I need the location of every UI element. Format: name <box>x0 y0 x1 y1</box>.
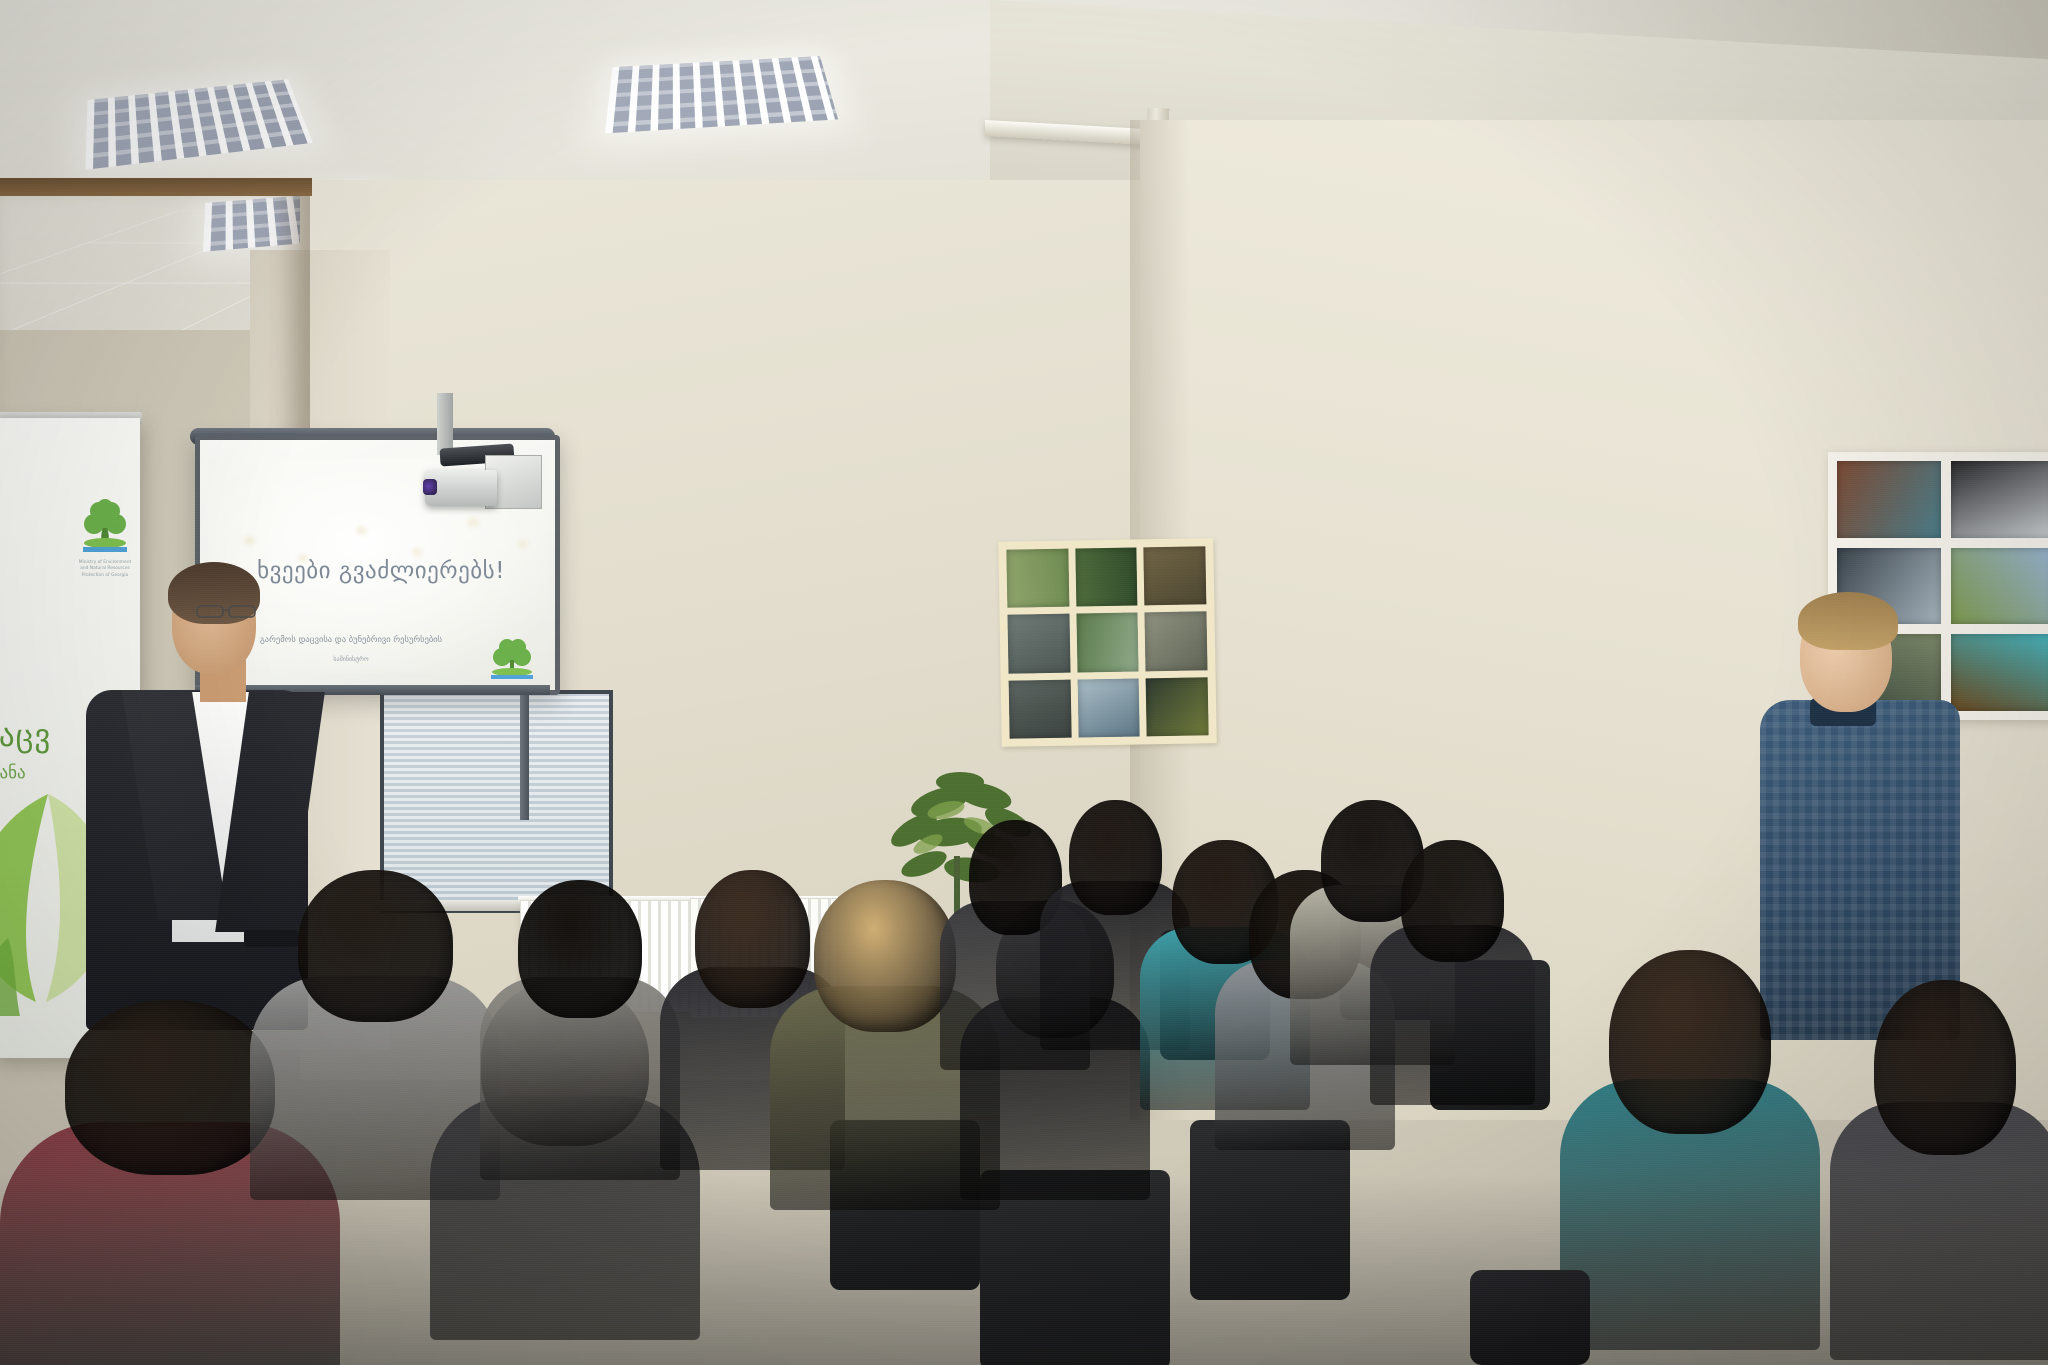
attendee-rear-right-head <box>1874 980 2017 1155</box>
glasses-icon <box>196 603 258 617</box>
photo-hillside-rocks <box>1144 546 1207 605</box>
photo-red-cliff-lagoon <box>1837 461 1941 538</box>
attendee-updo-woman-head <box>518 880 642 1018</box>
slide-headline: ხვეები გვაძლიერებს! <box>206 558 556 584</box>
photograph-scene: ხვეები გვაძლიერებს! გარემოს დაცვისა და ბ… <box>0 0 2048 1365</box>
photo-glacial-braids <box>1951 461 2048 538</box>
photo-mineral-pools <box>1146 677 1209 736</box>
projector-lens-icon <box>423 479 437 495</box>
standing-attendee-hair <box>1798 592 1898 650</box>
attendee-blonde-woman-head <box>814 880 957 1032</box>
ministry-logo-caption: Ministry of Environment and Natural Reso… <box>76 560 134 579</box>
attendee-rear-right <box>1830 980 2048 1360</box>
photo-hot-spring-pool <box>1951 634 2048 711</box>
attendee-teal-scarf-woman <box>1560 950 1820 1350</box>
photo-grassland-hills <box>1006 549 1069 608</box>
photo-snow-field <box>1145 612 1208 671</box>
photo-gravel-texture <box>1008 614 1071 673</box>
photo-waterfall <box>1077 678 1140 737</box>
wood-panel-trim <box>0 178 312 196</box>
ministry-tree-logo-icon <box>80 498 130 560</box>
handbag <box>1470 1270 1590 1365</box>
photo-rock-field <box>1009 679 1072 738</box>
attendee-plaid-shirt-head <box>65 1000 276 1175</box>
whiteboard-leg-right <box>520 695 529 820</box>
photo-river-delta <box>1076 613 1139 672</box>
projector-mount-arm <box>437 393 453 455</box>
nature-photo-collage <box>998 538 1217 747</box>
slide-subtext-2: სამინისტრო <box>206 656 496 663</box>
attendee-bald-man <box>1370 840 1535 1105</box>
attendee-teal-scarf-woman-head <box>1609 950 1770 1134</box>
attendee-updo-woman <box>480 880 680 1180</box>
photo-crater-lake <box>1075 547 1138 606</box>
attendee-bald-man-head <box>1401 840 1503 962</box>
slide-tree-logo-icon <box>483 636 541 682</box>
photo-green-plains <box>1951 548 2048 625</box>
